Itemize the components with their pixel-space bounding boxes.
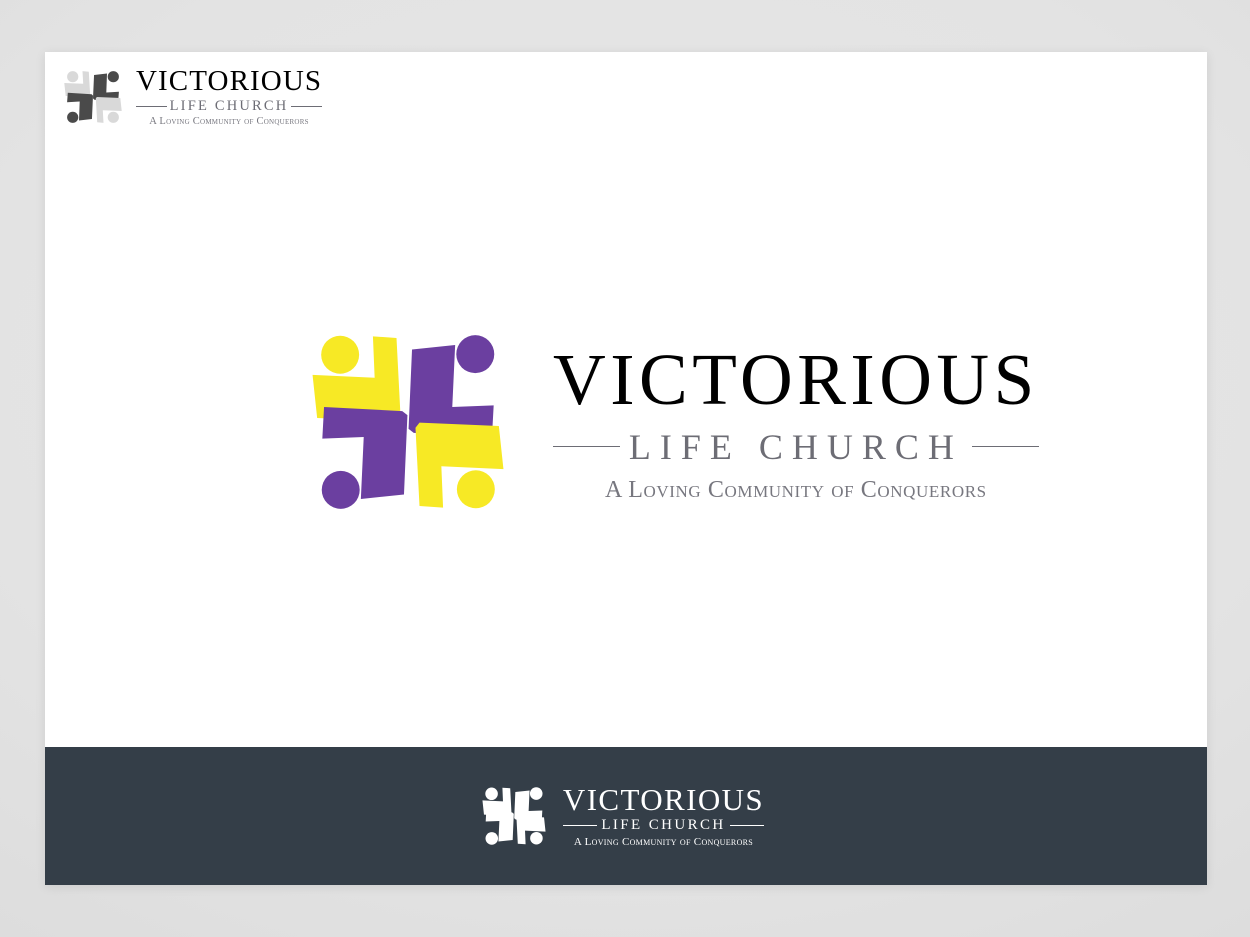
lockup-color-main: VICTORIOUS LIFE CHURCH A Loving Communit…	[293, 307, 1039, 537]
brand-subtitle: LIFE CHURCH	[597, 818, 729, 833]
brand-subtitle-row: LIFE CHURCH	[553, 429, 1039, 465]
mark-quadrant-top-right	[514, 787, 542, 821]
brand-tagline: A Loving Community of Conquerors	[574, 837, 753, 848]
lockup-reversed-footer: VICTORIOUS LIFE CHURCH A Loving Communit…	[476, 778, 764, 854]
wordmark-white: VICTORIOUS LIFE CHURCH A Loving Communit…	[563, 784, 764, 848]
wordmark-grayscale: VICTORIOUS LIFE CHURCH A Loving Communit…	[136, 67, 322, 127]
lockup-grayscale-top: VICTORIOUS LIFE CHURCH A Loving Communit…	[58, 62, 322, 132]
mark-quadrant-bottom-left	[322, 407, 408, 509]
rule-right	[730, 825, 764, 826]
mark-quadrant-bottom-right	[516, 816, 545, 844]
brand-subtitle: LIFE CHURCH	[620, 429, 972, 465]
rule-right	[972, 446, 1039, 447]
mark-quadrant-bottom-left	[485, 811, 513, 845]
brand-tagline: A Loving Community of Conquerors	[149, 117, 308, 128]
brand-subtitle-row: LIFE CHURCH	[136, 99, 322, 114]
mark-quadrant-bottom-left	[67, 93, 93, 123]
brand-title: VICTORIOUS	[136, 67, 322, 96]
brand-title: VICTORIOUS	[553, 343, 1039, 416]
brand-tagline: A Loving Community of Conquerors	[605, 478, 987, 502]
mark-quadrant-top-right	[93, 71, 119, 101]
brand-subtitle: LIFE CHURCH	[167, 99, 292, 114]
church-cross-people-mark-grayscale	[58, 62, 128, 132]
mark-quadrant-bottom-right	[96, 97, 122, 123]
mark-quadrant-bottom-right	[415, 423, 503, 509]
church-cross-people-mark-white	[476, 778, 552, 854]
brand-title: VICTORIOUS	[563, 784, 764, 815]
rule-right	[291, 106, 322, 107]
footer-band: VICTORIOUS LIFE CHURCH A Loving Communit…	[45, 747, 1207, 885]
mark-quadrant-top-right	[409, 335, 495, 437]
logo-presentation-card: VICTORIOUS LIFE CHURCH A Loving Communit…	[45, 52, 1207, 885]
church-cross-people-mark-color	[293, 307, 523, 537]
rule-left	[136, 106, 167, 107]
rule-left	[553, 446, 620, 447]
rule-left	[563, 825, 597, 826]
brand-subtitle-row: LIFE CHURCH	[563, 818, 764, 833]
wordmark-color: VICTORIOUS LIFE CHURCH A Loving Communit…	[553, 343, 1039, 502]
